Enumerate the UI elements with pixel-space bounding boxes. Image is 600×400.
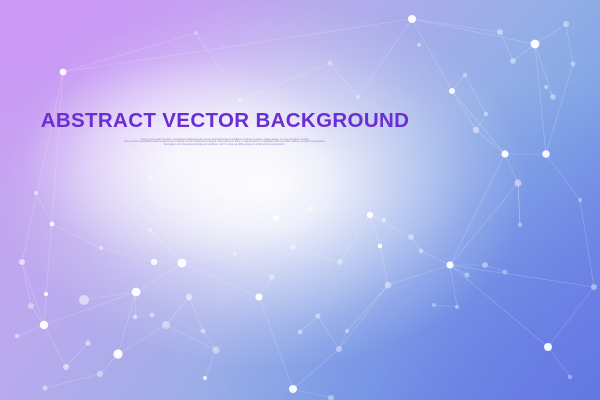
network-edge (101, 248, 154, 262)
network-edges (17, 19, 594, 398)
network-edge (45, 374, 100, 388)
network-edge (182, 254, 235, 263)
network-edge (44, 292, 136, 325)
network-edge (450, 154, 505, 265)
network-edge (36, 193, 52, 224)
network-edge (450, 265, 594, 287)
network-edge (300, 316, 318, 332)
network-node (44, 292, 48, 296)
network-node (568, 375, 572, 379)
network-node (201, 329, 206, 334)
network-edge (548, 347, 570, 377)
network-edge (218, 192, 262, 202)
network-node (178, 259, 187, 268)
network-edge (276, 209, 310, 218)
network-node (269, 274, 274, 279)
network-node (19, 259, 25, 265)
network-edge (276, 218, 293, 247)
hero-text-block: ABSTRACT VECTOR BACKGROUND Lorem ipsum d… (0, 110, 450, 147)
network-edge (136, 263, 182, 292)
network-node (298, 330, 302, 334)
network-edge (450, 265, 457, 307)
network-node (233, 252, 237, 256)
network-node (408, 15, 416, 23)
network-node (113, 349, 122, 358)
network-node (544, 343, 552, 351)
network-node (510, 58, 516, 64)
network-edge (182, 263, 259, 297)
network-edge (66, 343, 88, 367)
abstract-vector-background: ABSTRACT VECTOR BACKGROUND Lorem ipsum d… (0, 0, 600, 400)
network-edge (412, 19, 500, 32)
network-edge (380, 246, 388, 285)
network-node (578, 198, 582, 202)
network-node (417, 43, 421, 47)
network-node (315, 313, 320, 318)
network-node (255, 293, 262, 300)
network-node (356, 95, 360, 99)
network-edge (259, 297, 293, 389)
network-edge (546, 64, 573, 154)
network-edge (347, 285, 388, 331)
network-edge (476, 130, 505, 154)
network-edge (63, 19, 412, 72)
network-node (99, 246, 103, 250)
network-edge (388, 265, 450, 285)
network-edge (22, 262, 44, 325)
network-node (328, 395, 334, 400)
network-edge (421, 251, 450, 265)
network-node (367, 212, 373, 218)
network-node (463, 73, 467, 77)
network-node (79, 295, 89, 305)
network-node (385, 282, 392, 289)
network-edge (44, 325, 66, 367)
network-edge (235, 254, 272, 277)
network-edge (22, 72, 63, 262)
network-node (148, 228, 152, 232)
network-edge (205, 350, 216, 378)
hero-body-copy: Lorem ipsum dolor sit amet, consectetur … (77, 139, 373, 148)
network-node (544, 85, 548, 89)
body-line-3: Excepteur sint occaecat cupidatat non pr… (118, 144, 332, 147)
network-edge (293, 389, 331, 398)
network-node (40, 321, 48, 329)
network-edge (412, 19, 452, 91)
network-node (260, 200, 265, 205)
network-edge (262, 202, 276, 218)
network-edge (434, 305, 457, 307)
network-edge (218, 155, 268, 192)
network-node (238, 98, 243, 103)
network-node (85, 340, 90, 345)
network-node (133, 315, 137, 319)
network-edge (452, 91, 476, 130)
network-node (432, 303, 436, 307)
network-node (97, 371, 103, 377)
network-node (15, 334, 19, 338)
network-edge (150, 230, 182, 263)
network-node (550, 94, 556, 100)
network-edge (500, 32, 513, 61)
network-edge (505, 154, 518, 183)
network-node (266, 153, 270, 157)
network-node (419, 249, 424, 254)
network-node (571, 62, 576, 67)
network-edge (518, 183, 520, 225)
network-edge (166, 325, 216, 350)
network-edge (535, 24, 566, 44)
network-edge (450, 183, 518, 265)
network-edge (412, 19, 535, 44)
network-node (449, 88, 455, 94)
network-edge (52, 224, 101, 248)
network-node (531, 40, 540, 49)
network-node (455, 305, 459, 309)
network-node (194, 31, 198, 35)
network-node (34, 191, 38, 195)
network-edge (580, 200, 594, 287)
network-node (408, 234, 414, 240)
network-node (501, 150, 508, 157)
network-node (42, 385, 47, 390)
network-node (542, 150, 550, 158)
network-node (378, 244, 383, 249)
network-edge (293, 349, 339, 389)
network-edge (135, 315, 152, 317)
network-edge (450, 265, 548, 347)
network-node (337, 259, 343, 265)
network-node (473, 127, 479, 133)
network-node (150, 313, 155, 318)
network-node (482, 262, 488, 268)
network-node (216, 190, 221, 195)
network-edge (566, 24, 573, 64)
network-node (336, 346, 342, 352)
network-node (151, 259, 157, 265)
network-edge (240, 63, 330, 100)
network-edge (63, 33, 196, 72)
network-edge (84, 292, 136, 300)
network-edge (465, 75, 486, 114)
network-node (382, 218, 386, 222)
network-edge (17, 325, 44, 336)
network-node (484, 112, 488, 116)
network-node (60, 69, 67, 76)
network-edge (340, 215, 370, 262)
network-node (563, 21, 569, 27)
network-node (203, 376, 207, 380)
network-node (307, 206, 313, 212)
network-node (518, 223, 522, 227)
network-edge (196, 33, 240, 100)
network-edge (189, 297, 203, 331)
network-constellation-graphic (0, 0, 600, 400)
network-node (186, 294, 192, 300)
network-edge (293, 247, 340, 262)
network-node (273, 215, 279, 221)
network-node (345, 329, 349, 333)
network-edge (339, 285, 388, 349)
page-title: ABSTRACT VECTOR BACKGROUND (0, 110, 450, 132)
network-node (63, 364, 69, 370)
network-edge (546, 154, 580, 200)
network-node (162, 321, 170, 329)
network-node (591, 284, 597, 290)
network-node (147, 175, 152, 180)
network-node (132, 288, 141, 297)
network-node (212, 346, 219, 353)
network-node (464, 272, 469, 277)
network-node (514, 179, 521, 186)
network-edge (330, 63, 358, 97)
network-edge (452, 75, 465, 91)
network-edge (166, 297, 189, 325)
network-edge (548, 287, 594, 347)
network-node (289, 385, 297, 393)
network-edge (268, 155, 276, 218)
network-node (290, 244, 296, 250)
network-edge (318, 316, 339, 349)
network-node (497, 29, 503, 35)
network-edge (358, 19, 412, 97)
network-edge (150, 178, 218, 192)
network-node (503, 270, 508, 275)
network-node (327, 60, 332, 65)
network-node (50, 222, 55, 227)
network-node (28, 303, 34, 309)
network-node (446, 261, 453, 268)
